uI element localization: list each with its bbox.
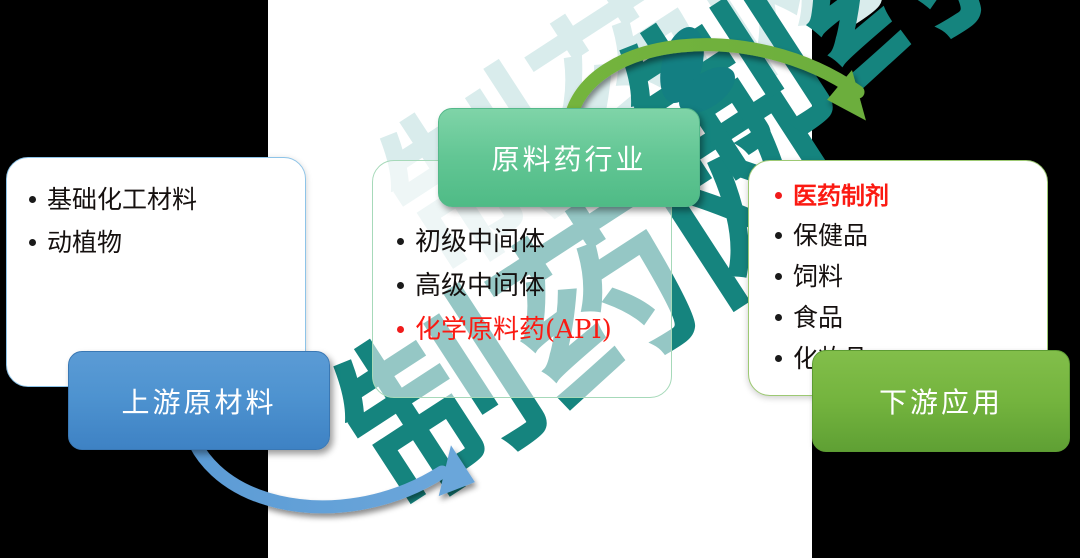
bullet-dot-icon bbox=[29, 239, 36, 246]
bullet-dot-icon bbox=[775, 314, 782, 321]
list-item-highlighted: 化学原料药(API) bbox=[397, 309, 612, 346]
list-item-label: 饲料 bbox=[793, 257, 843, 293]
downstream-stage-label-text: 下游应用 bbox=[879, 381, 1003, 421]
list-item-highlighted: 医药制剂 bbox=[775, 176, 889, 211]
list-item-label: 初级中间体 bbox=[415, 221, 545, 258]
bullet-dot-icon-highlighted bbox=[775, 192, 782, 199]
list-item: 基础化工材料 bbox=[29, 180, 197, 216]
upstream-item-list: 基础化工材料 动植物 bbox=[29, 180, 197, 266]
list-item: 动植物 bbox=[29, 223, 197, 259]
list-item-label: 动植物 bbox=[47, 223, 122, 259]
upstream-stage-label-text: 上游原材料 bbox=[121, 381, 276, 421]
list-item-label: 化学原料药(API) bbox=[415, 309, 612, 346]
industry-item-list: 初级中间体 高级中间体 化学原料药(API) bbox=[397, 221, 612, 353]
list-item-label: 医药制剂 bbox=[793, 176, 889, 211]
list-item: 饲料 bbox=[775, 257, 889, 293]
list-item: 保健品 bbox=[775, 216, 889, 252]
list-item: 高级中间体 bbox=[397, 265, 612, 302]
bullet-dot-icon bbox=[397, 282, 404, 289]
list-item: 初级中间体 bbox=[397, 221, 612, 258]
downstream-stage-label[interactable]: 下游应用 bbox=[812, 350, 1070, 452]
bullet-dot-icon bbox=[29, 196, 36, 203]
bullet-dot-icon bbox=[397, 238, 404, 245]
industry-stage-label-text: 原料药行业 bbox=[491, 138, 646, 178]
bullet-dot-icon bbox=[775, 232, 782, 239]
diagram-canvas: 制药网 制药网 制药网 bbox=[0, 0, 1080, 558]
bullet-dot-icon bbox=[775, 355, 782, 362]
list-item: 食品 bbox=[775, 298, 889, 334]
list-item-label: 基础化工材料 bbox=[47, 180, 197, 216]
bullet-dot-icon-highlighted bbox=[397, 326, 404, 333]
bullet-dot-icon bbox=[775, 273, 782, 280]
upstream-stage-label[interactable]: 上游原材料 bbox=[68, 351, 330, 450]
list-item-label: 高级中间体 bbox=[415, 265, 545, 302]
list-item-label: 保健品 bbox=[793, 216, 868, 252]
industry-stage-label[interactable]: 原料药行业 bbox=[438, 108, 700, 207]
list-item-label: 食品 bbox=[793, 298, 843, 334]
